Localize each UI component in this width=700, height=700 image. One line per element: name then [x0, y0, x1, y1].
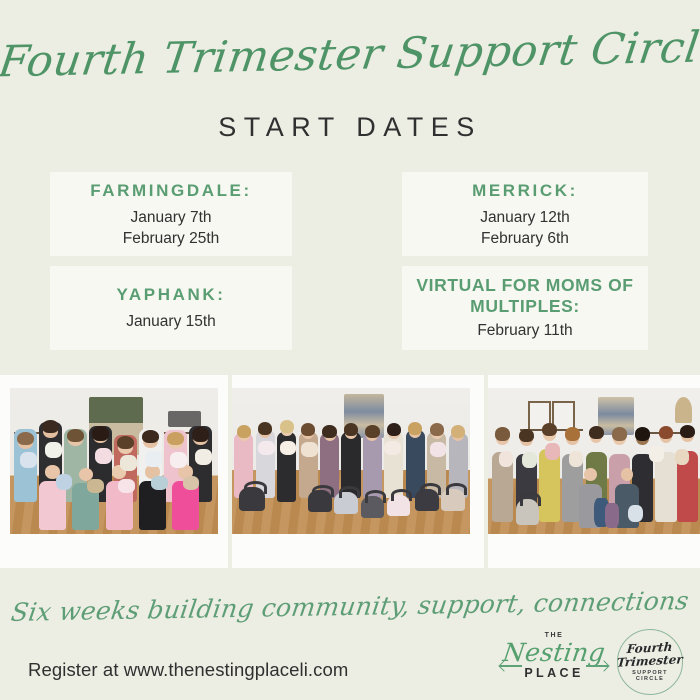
group-photo-1 — [10, 388, 218, 534]
location-name: YAPHANK: — [117, 284, 226, 305]
hair — [92, 426, 109, 441]
baby — [145, 451, 162, 467]
hair — [237, 425, 251, 438]
baby — [569, 451, 584, 467]
dried-pampas-grass — [675, 397, 692, 423]
infant-car-seat — [334, 492, 358, 514]
baby — [87, 479, 104, 494]
hair — [301, 423, 315, 436]
flyer-canvas: Fourth Trimester Support Circle START DA… — [0, 0, 700, 700]
hair — [387, 423, 401, 436]
logo-nesting-text: Nesting — [498, 640, 610, 666]
hair — [17, 432, 34, 445]
hair — [635, 427, 650, 440]
hair — [67, 429, 84, 442]
toddler — [605, 503, 620, 528]
person — [363, 433, 382, 497]
hair — [680, 425, 695, 438]
photo-scene — [232, 388, 470, 534]
location-date: February 6th — [481, 228, 569, 249]
hair — [612, 427, 627, 440]
baby — [522, 452, 537, 468]
fourth-trimester-badge-logo: Fourth Trimester SUPPORT CIRCLE — [617, 629, 683, 695]
hair — [408, 422, 422, 435]
hair — [258, 422, 272, 435]
hair — [322, 425, 336, 438]
hair — [589, 426, 604, 439]
hair — [142, 430, 159, 443]
infant-car-seat — [516, 499, 539, 525]
hair — [451, 425, 465, 438]
baby — [430, 442, 447, 457]
hair — [365, 425, 379, 438]
photo-scene — [10, 388, 218, 534]
infant-car-seat — [308, 490, 332, 512]
hair — [495, 427, 510, 440]
location-card-virtual-multiples: VIRTUAL FOR MOMS OF MULTIPLES: February … — [402, 266, 648, 350]
location-date: February 11th — [477, 320, 572, 341]
hair — [659, 426, 674, 439]
location-card-farmingdale: FARMINGDALE: January 7th February 25th — [50, 172, 292, 256]
hair — [542, 423, 557, 436]
infant-car-seat — [387, 495, 411, 517]
baby — [628, 505, 643, 523]
baby — [95, 448, 112, 464]
baby — [384, 441, 401, 456]
photo-scene — [488, 388, 700, 534]
hair — [167, 432, 184, 445]
wall-sign — [168, 411, 201, 427]
hair — [519, 429, 534, 442]
baby — [675, 449, 690, 465]
location-date: January 15th — [126, 311, 216, 332]
baby — [118, 479, 135, 494]
person — [655, 452, 676, 522]
group-photo-2 — [232, 388, 470, 534]
hair — [192, 427, 209, 442]
location-card-yaphank: YAPHANK: January 15th — [50, 266, 292, 350]
arrow-flourish-left-icon — [500, 665, 522, 667]
baby — [545, 443, 560, 459]
location-name: FARMINGDALE: — [90, 180, 252, 201]
location-date: February 25th — [123, 228, 220, 249]
hair — [42, 420, 59, 433]
baby — [301, 442, 318, 457]
hair — [565, 427, 580, 440]
hair — [280, 420, 294, 433]
baby — [151, 476, 168, 491]
baby — [649, 446, 664, 462]
nesting-place-logo: THE Nesting PLACE — [500, 632, 608, 690]
location-date: January 7th — [131, 207, 212, 228]
location-date: January 12th — [480, 207, 570, 228]
hair — [430, 423, 444, 436]
logo-place-text: PLACE — [500, 666, 608, 680]
infant-car-seat — [441, 489, 465, 511]
infant-car-seat — [361, 496, 385, 518]
arrow-flourish-right-icon — [586, 665, 608, 667]
badge-line-3: SUPPORT CIRCLE — [618, 670, 682, 682]
baby — [258, 441, 275, 456]
group-photo-3 — [488, 388, 700, 534]
baby — [499, 451, 514, 467]
baby — [45, 442, 62, 458]
page-subtitle: START DATES — [0, 112, 700, 143]
infant-car-seat — [239, 487, 265, 510]
location-name: MERRICK: — [472, 180, 578, 201]
person — [539, 449, 560, 522]
baby — [183, 476, 200, 491]
baby — [195, 449, 212, 465]
page-title-script: Fourth Trimester Support Circle — [0, 19, 700, 92]
hair — [117, 436, 134, 449]
baby — [170, 452, 187, 468]
baby — [56, 474, 73, 490]
baby — [280, 441, 297, 456]
location-name: VIRTUAL FOR MOMS OF MULTIPLES: — [410, 275, 640, 317]
infant-car-seat — [415, 489, 439, 511]
badge-line-2: Trimester — [617, 653, 684, 668]
hair — [344, 423, 358, 436]
register-text: Register at www.thenestingplaceli.com — [28, 659, 348, 681]
baby — [20, 452, 37, 468]
location-card-merrick: MERRICK: January 12th February 6th — [402, 172, 648, 256]
baby — [120, 455, 137, 471]
